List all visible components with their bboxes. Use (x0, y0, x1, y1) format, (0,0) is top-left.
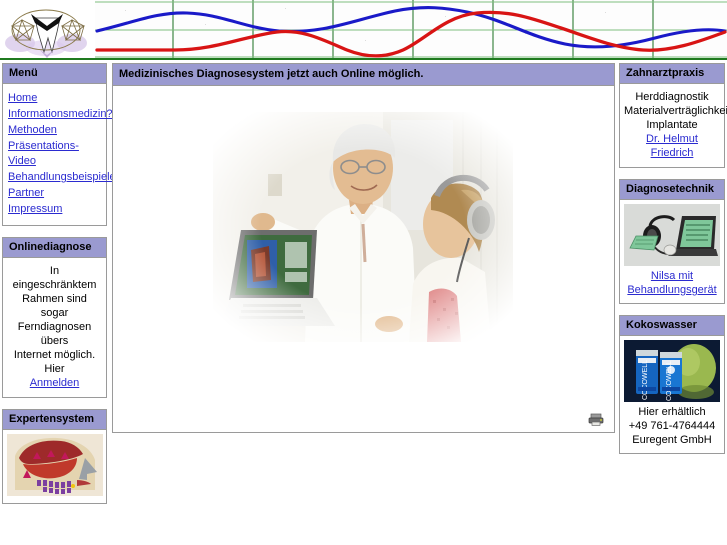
nilsa-link-line1[interactable]: Nilsa mit (623, 269, 721, 283)
panel-zahnarztpraxis-body: Herddiagnostik Materialverträglichkeit I… (620, 84, 724, 167)
panel-onlinediagnose-title: Onlinediagnose (3, 238, 106, 258)
onlinediagnose-line-2: Rahmen sind sogar (7, 292, 102, 320)
zahnarztpraxis-line-1: Herddiagnostik (624, 90, 720, 104)
tooth-mandala-logo-icon (0, 0, 95, 60)
waveform-svg (95, 0, 727, 60)
main-content-body (113, 86, 614, 434)
panel-menu-title: Menü (3, 64, 106, 84)
panel-diagnosetechnik: Diagnosetechnik (619, 179, 725, 304)
zahnarztpraxis-line-2: Materialverträglichkeit (624, 104, 720, 118)
panel-onlinediagnose-body: In eingeschränktem Rahmen sind sogar Fer… (3, 258, 106, 397)
sidebar-item-informationsmedizin[interactable]: Informationsmedizin? (8, 107, 106, 122)
sidebar-item-methoden[interactable]: Methoden (8, 123, 106, 138)
hero-photo (213, 112, 513, 342)
panel-kokoswasser: Kokoswasser COCOWELL (619, 315, 725, 454)
main-content-panel: Medizinisches Diagnosesystem jetzt auch … (112, 63, 615, 433)
panel-onlinediagnose: Onlinediagnose In eingeschränktem Rahmen… (2, 237, 107, 398)
onlinediagnose-line-5: Hier (7, 362, 102, 376)
anmelden-link[interactable]: Anmelden (30, 377, 80, 389)
onlinediagnose-line-1: In eingeschränktem (7, 264, 102, 292)
panel-expertensystem-body (3, 430, 106, 503)
onlinediagnose-line-4: Internet möglich. (7, 348, 102, 362)
right-sidebar: Zahnarztpraxis Herddiagnostik Materialve… (619, 63, 725, 465)
site-logo (0, 0, 95, 60)
sidebar-item-behandlungsbeispiele[interactable]: Behandlungsbeispiele (8, 170, 106, 185)
kokoswasser-product-image[interactable]: COCOWELL COCOWELL (624, 340, 720, 402)
sidebar-item-partner[interactable]: Partner (8, 186, 106, 201)
panel-zahnarztpraxis-title: Zahnarztpraxis (620, 64, 724, 84)
panel-zahnarztpraxis: Zahnarztpraxis Herddiagnostik Materialve… (619, 63, 725, 168)
panel-diagnosetechnik-body: Nilsa mit Behandlungsgerät (620, 200, 724, 303)
page-body: Menü Home Informationsmedizin? Methoden … (0, 60, 727, 545)
main-column: Medizinisches Diagnosesystem jetzt auch … (112, 63, 615, 433)
left-sidebar: Menü Home Informationsmedizin? Methoden … (2, 63, 107, 515)
menu-link-list: Home Informationsmedizin? Methoden Präse… (3, 84, 106, 225)
page-title: Medizinisches Diagnosesystem jetzt auch … (113, 64, 614, 86)
nilsa-device-image[interactable] (624, 204, 720, 266)
panel-menu: Menü Home Informationsmedizin? Methoden … (2, 63, 107, 226)
kokoswasser-line-2: +49 761-4764444 (623, 419, 721, 433)
panel-diagnosetechnik-title: Diagnosetechnik (620, 180, 724, 200)
panel-kokoswasser-title: Kokoswasser (620, 316, 724, 336)
kokoswasser-line-3: Euregent GmbH (623, 433, 721, 447)
dr-helmut-friedrich-link[interactable]: Dr. Helmut Friedrich (646, 133, 698, 159)
panel-expertensystem-title: Expertensystem (3, 410, 106, 430)
site-banner (0, 0, 727, 60)
onlinediagnose-line-3: Ferndiagnosen übers (7, 320, 102, 348)
nilsa-link-line2[interactable]: Behandlungsgerät (623, 283, 721, 297)
kokoswasser-line-1: Hier erhältlich (623, 405, 721, 419)
sidebar-item-home[interactable]: Home (8, 91, 106, 106)
sidebar-item-impressum[interactable]: Impressum (8, 202, 106, 217)
svg-text:COCOWELL: COCOWELL (642, 360, 649, 400)
panel-expertensystem: Expertensystem (2, 409, 107, 504)
print-icon[interactable] (588, 413, 604, 426)
sidebar-item-praesentations-video[interactable]: Präsentations-Video (8, 139, 106, 169)
anatomical-head-image[interactable] (7, 434, 103, 496)
panel-kokoswasser-body: COCOWELL COCOWELL Hier erhältlich +49 76… (620, 336, 724, 453)
banner-waveform-chart (95, 0, 727, 60)
zahnarztpraxis-line-3: Implantate (624, 118, 720, 132)
